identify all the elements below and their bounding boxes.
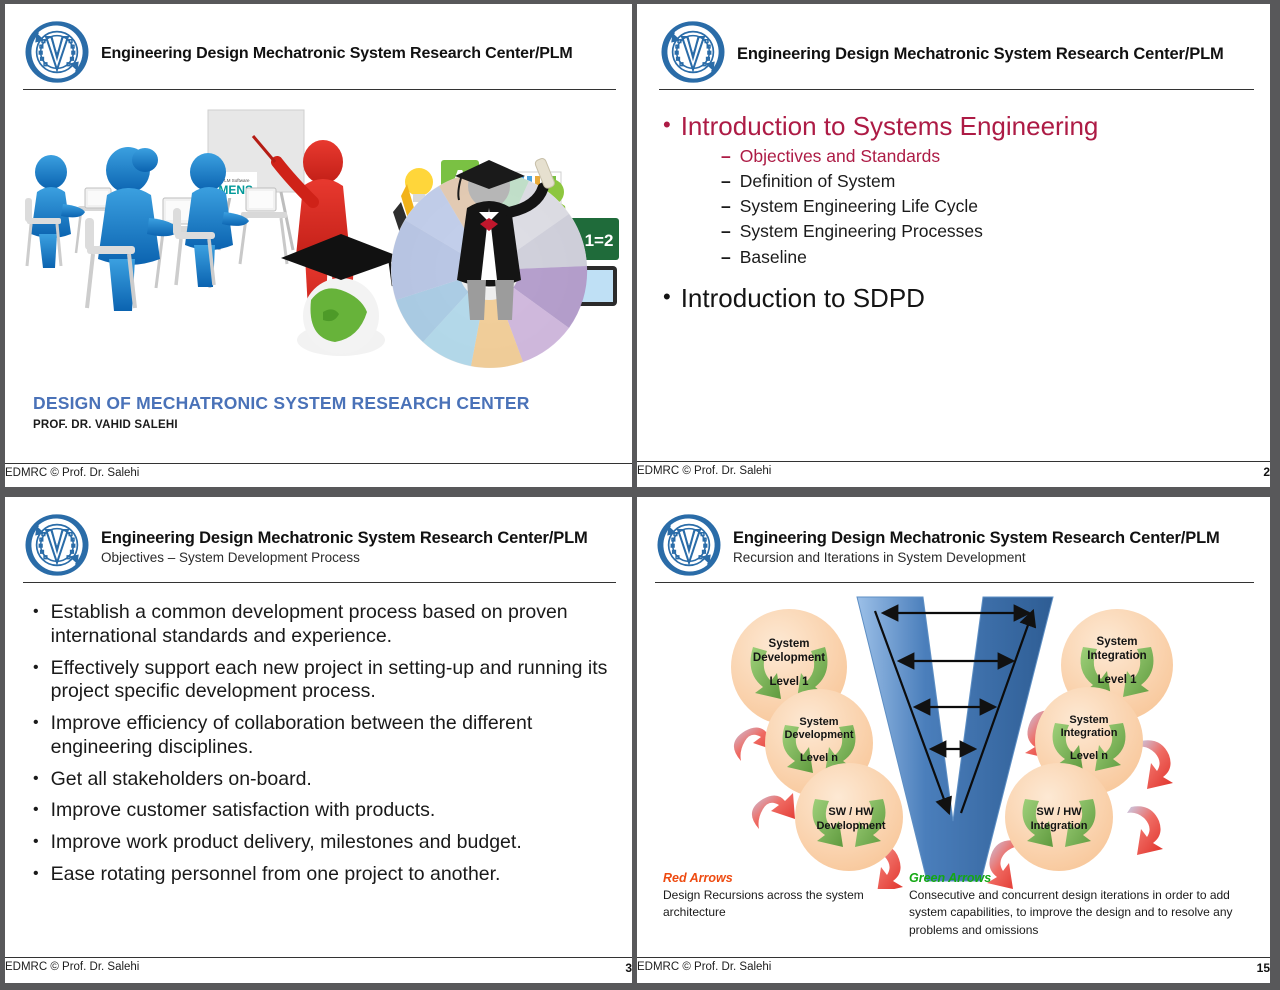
svg-text:System: System (1097, 636, 1138, 648)
dash-bullet-icon: – (721, 196, 731, 216)
footer-copyright: EDMRC © Prof. Dr. Salehi (5, 961, 139, 973)
v-model-recursion-iterations-diagram: System Development Level 1 System Develo… (661, 589, 1245, 889)
edmrc-v-gear-logo-icon (23, 18, 91, 86)
footer-page-number: 3 (625, 961, 632, 975)
edmrc-v-gear-logo-icon (23, 511, 91, 579)
agenda-subitem-3[interactable]: – System Engineering Processes (721, 221, 1250, 241)
agenda-subitem-label: Definition of System (740, 171, 896, 191)
page-subtitle: Recursion and Iterations in System Devel… (733, 550, 1254, 565)
footer-page-number: 2 (1263, 465, 1270, 479)
objectives-list: • Establish a common development process… (33, 601, 610, 895)
header-divider (659, 89, 1254, 90)
list-item[interactable]: • Improve customer satisfaction with pro… (33, 799, 610, 823)
legend-description: Consecutive and concurrent design iterat… (909, 887, 1258, 939)
list-item-label: Effectively support each new project in … (51, 657, 610, 705)
header-divider (23, 89, 616, 90)
list-item-label: Get all stakeholders on-board. (51, 768, 312, 792)
legend-title: Green Arrows (909, 871, 1258, 885)
legend-green-arrows: Green Arrows Consecutive and concurrent … (909, 871, 1258, 939)
slide-footer: EDMRC © Prof. Dr. Salehi 15 (637, 957, 1270, 975)
svg-text:Development: Development (753, 652, 825, 664)
svg-text:1=2: 1=2 (585, 231, 614, 250)
svg-text:Integration: Integration (1087, 650, 1146, 662)
legend-title: Red Arrows (663, 871, 893, 885)
list-item-label: Improve customer satisfaction with produ… (51, 799, 436, 823)
svg-text:Integration: Integration (1061, 727, 1118, 739)
slide-agenda[interactable]: Engineering Design Mechatronic System Re… (637, 4, 1270, 487)
list-item-label: Improve work product delivery, milestone… (51, 831, 522, 855)
slide-header: Engineering Design Mechatronic System Re… (655, 511, 1254, 583)
svg-text:Integration: Integration (1031, 820, 1088, 832)
page-title: Engineering Design Mechatronic System Re… (101, 529, 616, 548)
agenda-subitem-label: System Engineering Life Cycle (740, 196, 978, 216)
header-divider (655, 582, 1254, 583)
svg-text:Level 1: Level 1 (1098, 674, 1138, 686)
bullet-dot-icon: • (33, 768, 39, 790)
svg-text:Level n: Level n (800, 752, 838, 764)
list-item[interactable]: • Ease rotating personnel from one proje… (33, 863, 610, 887)
slide-footer: EDMRC © Prof. Dr. Salehi (5, 463, 632, 479)
bullet-dot-icon: • (663, 112, 671, 138)
slide-footer: EDMRC © Prof. Dr. Salehi 3 (5, 957, 632, 975)
diagram-legend: Red Arrows Design Recursions across the … (663, 871, 1258, 939)
slide-header: Engineering Design Mechatronic System Re… (23, 511, 616, 583)
header-divider (23, 582, 616, 583)
bullet-dot-icon: • (33, 657, 39, 679)
svg-text:SW / HW: SW / HW (828, 806, 874, 818)
dash-bullet-icon: – (721, 146, 731, 166)
bullet-dot-icon: • (33, 601, 39, 623)
legend-red-arrows: Red Arrows Design Recursions across the … (663, 871, 893, 939)
classroom-and-graduation-clipart: Siemens PLM Software SIEMENS (23, 100, 619, 368)
agenda-item-0[interactable]: • Introduction to Systems Engineering (663, 112, 1250, 141)
dash-bullet-icon: – (721, 247, 731, 267)
svg-text:Level n: Level n (1070, 750, 1108, 762)
svg-text:Development: Development (816, 820, 885, 832)
presentation-title: DESIGN OF MECHATRONIC SYSTEM RESEARCH CE… (33, 393, 530, 414)
list-item-label: Establish a common development process b… (51, 601, 610, 649)
footer-copyright: EDMRC © Prof. Dr. Salehi (637, 465, 771, 477)
bullet-dot-icon: • (663, 284, 671, 310)
agenda-subitem-label: Objectives and Standards (740, 146, 940, 166)
dash-bullet-icon: – (721, 171, 731, 191)
list-item-label: Ease rotating personnel from one project… (51, 863, 501, 887)
edmrc-v-gear-logo-icon (655, 511, 723, 579)
slide-objectives[interactable]: Engineering Design Mechatronic System Re… (5, 497, 632, 983)
edmrc-v-gear-logo-icon (659, 18, 727, 86)
slide-header: Engineering Design Mechatronic System Re… (23, 18, 616, 90)
agenda-spacer (663, 272, 1250, 284)
agenda-subitem-1[interactable]: – Definition of System (721, 171, 1250, 191)
page-title: Engineering Design Mechatronic System Re… (737, 45, 1254, 64)
svg-text:System: System (769, 638, 810, 650)
agenda-subitem-2[interactable]: – System Engineering Life Cycle (721, 196, 1250, 216)
slide-header: Engineering Design Mechatronic System Re… (659, 18, 1254, 90)
page-title: Engineering Design Mechatronic System Re… (733, 529, 1254, 548)
list-item[interactable]: • Improve efficiency of collaboration be… (33, 712, 610, 760)
slide-grid: Engineering Design Mechatronic System Re… (0, 0, 1280, 990)
bullet-dot-icon: • (33, 831, 39, 853)
presenter-name: PROF. DR. VAHID SALEHI (33, 419, 530, 431)
list-item-label: Improve efficiency of collaboration betw… (51, 712, 610, 760)
list-item[interactable]: • Improve work product delivery, milesto… (33, 831, 610, 855)
svg-text:System: System (1069, 714, 1108, 726)
svg-text:System: System (799, 716, 838, 728)
footer-page-number: 15 (1257, 961, 1270, 975)
agenda-subitem-0[interactable]: – Objectives and Standards (721, 146, 1250, 166)
slide-title[interactable]: Engineering Design Mechatronic System Re… (5, 4, 632, 487)
agenda-subitem-4[interactable]: – Baseline (721, 247, 1250, 267)
bullet-dot-icon: • (33, 799, 39, 821)
page-title: Engineering Design Mechatronic System Re… (101, 45, 616, 63)
svg-text:SW / HW: SW / HW (1036, 806, 1082, 818)
list-item[interactable]: • Effectively support each new project i… (33, 657, 610, 705)
title-block: DESIGN OF MECHATRONIC SYSTEM RESEARCH CE… (33, 393, 530, 431)
bullet-dot-icon: • (33, 863, 39, 885)
svg-text:Development: Development (784, 729, 853, 741)
footer-copyright: EDMRC © Prof. Dr. Salehi (5, 467, 139, 479)
svg-text:Level 1: Level 1 (770, 676, 810, 688)
agenda-item-1[interactable]: • Introduction to SDPD (663, 284, 1250, 313)
agenda-subitem-label: Baseline (740, 247, 807, 267)
page-subtitle: Objectives – System Development Process (101, 550, 616, 565)
slide-footer: EDMRC © Prof. Dr. Salehi 2 (637, 461, 1270, 479)
agenda-subitem-label: System Engineering Processes (740, 221, 983, 241)
slide-recursion[interactable]: Engineering Design Mechatronic System Re… (637, 497, 1270, 983)
agenda-item-label: Introduction to Systems Engineering (681, 112, 1099, 141)
dash-bullet-icon: – (721, 221, 731, 241)
agenda-item-label: Introduction to SDPD (681, 284, 925, 313)
legend-description: Design Recursions across the system arch… (663, 887, 893, 922)
footer-copyright: EDMRC © Prof. Dr. Salehi (637, 961, 771, 973)
agenda-list: • Introduction to Systems Engineering – … (663, 112, 1250, 315)
list-item[interactable]: • Get all stakeholders on-board. (33, 768, 610, 792)
bullet-dot-icon: • (33, 712, 39, 734)
list-item[interactable]: • Establish a common development process… (33, 601, 610, 649)
